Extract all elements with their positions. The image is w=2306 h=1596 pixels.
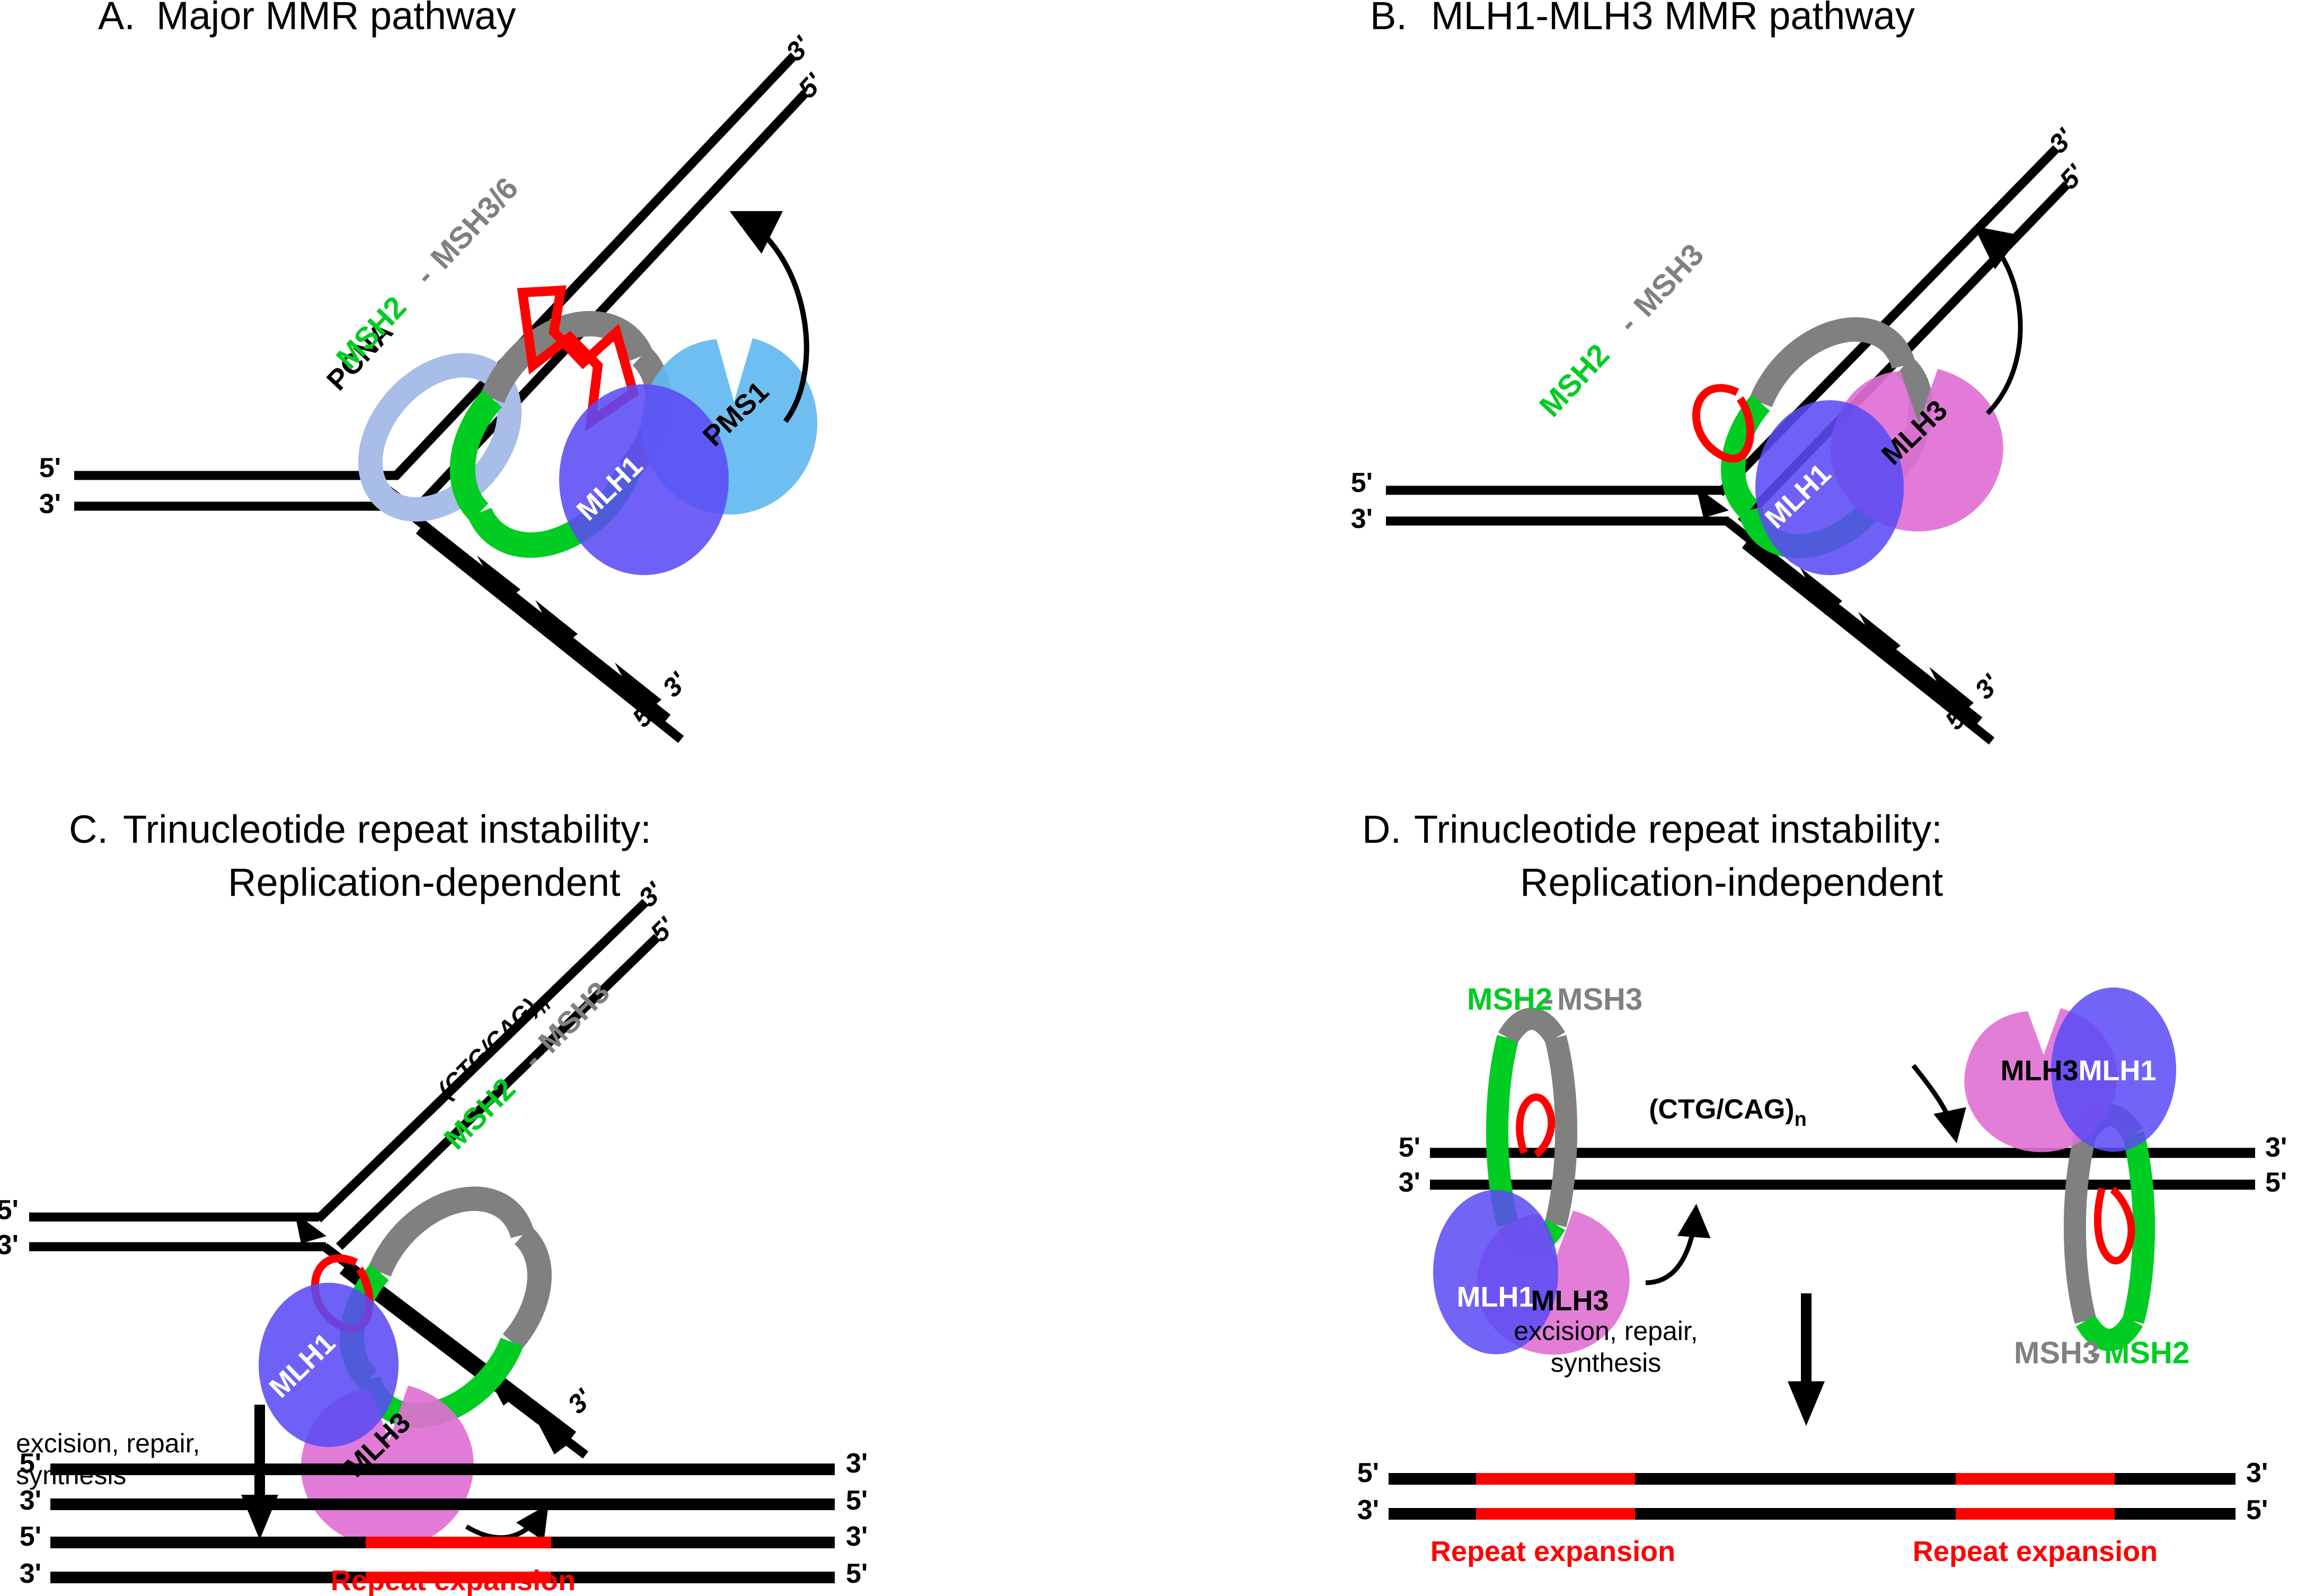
panel-d-left-complex-msh3: MSH3 (1557, 982, 1642, 1017)
mlh1-shape-icon (559, 384, 729, 575)
panel-d-prod-5p-left: 5' (1357, 1458, 1379, 1488)
panel-c-repeat-expansion-label: Repeat expansion (331, 1565, 576, 1596)
panel-d-title-line2: Replication-independent (1520, 860, 1943, 904)
panel-c-title-line1: Trinucleotide repeat instability: (123, 807, 651, 851)
panel-d-left-complex-msh2: MSH2 (1467, 982, 1552, 1017)
panel-c-p1-5p-left: 5' (20, 1448, 41, 1479)
mlh1-label-d-left: MLH1 (1457, 1281, 1535, 1313)
panel-d-process-line1: excision, repair, (1514, 1316, 1698, 1346)
panel-d-letter: D. (1362, 807, 1401, 851)
panel-d-right-complex-msh2: MSH2 (2104, 1336, 2189, 1370)
panel-b-letter: B. (1370, 0, 1407, 38)
panel-d-repeat-expansion-label-2: Repeat expansion (1913, 1536, 2158, 1567)
panel-c-p2-3p-right: 3' (846, 1521, 868, 1552)
panel-a-title: Major MMR pathway (156, 0, 516, 38)
panel-d-5p-left: 5' (1399, 1132, 1420, 1163)
panel-d-right-complex-sep: - (2090, 1336, 2100, 1370)
panel-a-label-5p-left: 5' (39, 453, 61, 483)
panel-c-p1-5p-right: 5' (846, 1485, 868, 1516)
panel-d-5p-right: 5' (2265, 1167, 2287, 1198)
panel-b-title: MLH1-MLH3 MMR pathway (1431, 0, 1915, 38)
panel-c-p2-5p-left: 5' (20, 1521, 41, 1552)
panel-c-process-line1: excision, repair, (16, 1429, 200, 1458)
panel-a-label-3p-left: 3' (39, 489, 61, 519)
panel-c-p1-3p-left: 3' (20, 1485, 41, 1516)
panel-d-repeat-expansion-label-1: Repeat expansion (1430, 1536, 1675, 1567)
panel-c-title-line2: Replication-dependent (228, 860, 621, 904)
panel-b-label-5p-left: 5' (1351, 468, 1373, 498)
mlh1-label-d-right: MLH1 (2079, 1055, 2157, 1087)
panel-d-left-complex-sep: - (1543, 982, 1553, 1017)
figure-root: A. Major MMR pathway 3' 5' 5' 3' 3' 5' (0, 0, 2306, 1596)
panel-c-label-5p-left: 5' (0, 1195, 19, 1225)
panel-c-letter: C. (69, 807, 108, 851)
mlh3-label-d-right: MLH3 (2001, 1055, 2079, 1087)
panel-d-prod-3p-right: 3' (2246, 1458, 2268, 1488)
panel-d-3p-left: 3' (1399, 1167, 1420, 1198)
panel-d-prod-3p-left: 3' (1357, 1495, 1379, 1526)
mlh3-label-d-left: MLH3 (1531, 1285, 1609, 1317)
panel-d-title-line1: Trinucleotide repeat instability: (1414, 807, 1942, 851)
panel-d-3p-right: 3' (2265, 1132, 2287, 1163)
panel-d-right-complex-msh3: MSH3 (2014, 1336, 2099, 1370)
panel-b-label-3p-left: 3' (1351, 504, 1373, 534)
panel-c-p2-5p-right: 5' (846, 1558, 868, 1589)
figure-svg: A. Major MMR pathway 3' 5' 5' 3' 3' 5' (0, 0, 2306, 1596)
panel-c-p2-3p-left: 3' (20, 1558, 41, 1589)
panel-c-label-3p-left: 3' (0, 1230, 19, 1260)
panel-d-prod-5p-right: 5' (2246, 1495, 2268, 1526)
panel-c-p1-3p-right: 3' (846, 1448, 868, 1479)
panel-a-letter: A. (98, 0, 135, 38)
panel-d-process-line2: synthesis (1551, 1348, 1661, 1378)
